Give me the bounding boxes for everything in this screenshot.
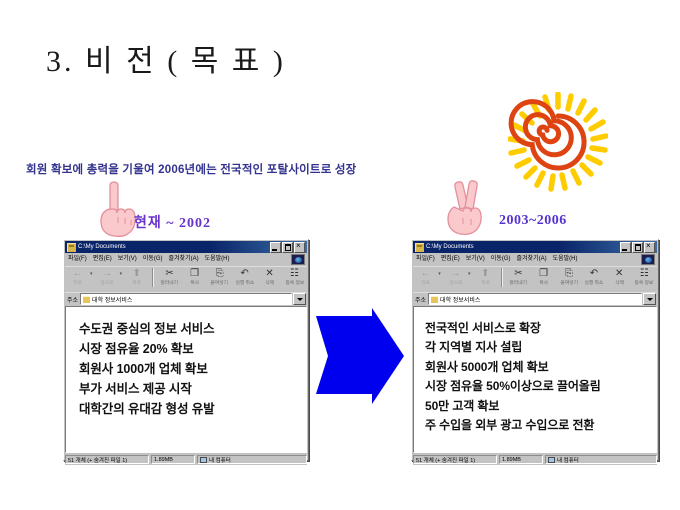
status-bar: 51 개체 (+ 숨겨진 파일 1) 1.89MB 내 컴퓨터 xyxy=(413,454,657,465)
list-item: 대학간의 유대감 형성 유발 xyxy=(79,399,306,419)
list-item: 시장 점유율 20% 확보 xyxy=(79,339,306,359)
page-title: 3. 비 전 ( 목 표 ) xyxy=(46,36,286,80)
scissors-icon: ✂ xyxy=(514,269,522,280)
address-input[interactable]: 대학 정보서비스 xyxy=(428,293,642,305)
close-button[interactable] xyxy=(644,242,655,253)
maximize-button[interactable] xyxy=(282,242,293,253)
list-item: 부가 서비스 제공 시작 xyxy=(79,379,306,399)
list-item: 전국적인 서비스로 확장 xyxy=(425,319,656,338)
tool-bar[interactable]: ← 뒤로 ▾ → 앞으로 ▾ ⬆ 위로 ✂ 잘라내기 ❐ 복사 xyxy=(65,266,307,291)
address-label: 주소 xyxy=(413,295,428,304)
chevron-down-icon[interactable] xyxy=(643,293,656,305)
toolbar-divider xyxy=(501,268,503,287)
minimize-button[interactable] xyxy=(270,242,281,253)
maximize-button[interactable] xyxy=(632,242,643,253)
tool-bar[interactable]: ← 뒤로 ▾ → 앞으로 ▾ ⬆ 위로 ✂ 잘라내기 ❐ 복사 xyxy=(413,266,657,291)
window-titlebar[interactable]: C:\My Documents xyxy=(413,241,657,253)
status-objects: 51 개체 (+ 숨겨진 파일 1) xyxy=(413,455,497,464)
menu-item-edit[interactable]: 편집(E) xyxy=(438,254,463,265)
folder-icon xyxy=(415,243,424,252)
menu-item-favorites[interactable]: 즐겨찾기(A) xyxy=(166,254,202,265)
phase-right-label: 2003~2006 xyxy=(499,213,567,229)
list-item: 50만 고객 확보 xyxy=(425,397,656,416)
window-buttons[interactable] xyxy=(270,242,306,253)
undo-icon: ↶ xyxy=(590,269,598,280)
window-titlebar[interactable]: C:\My Documents xyxy=(65,241,307,253)
toolbar-forward-button[interactable]: → 앞으로 xyxy=(443,267,468,286)
list-item: 회원사 5000개 업체 확보 xyxy=(425,358,656,377)
status-location: 내 컴퓨터 xyxy=(545,455,657,464)
phase-left-label: 현재 ~ 2002 xyxy=(134,212,211,232)
arrow-up-icon: ⬆ xyxy=(133,269,141,280)
undo-icon: ↶ xyxy=(240,269,248,280)
close-button[interactable] xyxy=(294,242,305,253)
menu-item-view[interactable]: 보기(V) xyxy=(115,254,140,265)
address-value: 대학 정보서비스 xyxy=(440,295,480,304)
folder-icon xyxy=(83,296,90,303)
toolbar-forward-button[interactable]: → 앞으로 xyxy=(95,267,120,286)
toolbar-undo-button[interactable]: ↶ 실행 취소 xyxy=(581,267,606,286)
list-item: 각 지역별 지사 설립 xyxy=(425,338,656,357)
menu-item-help[interactable]: 도움말(H) xyxy=(202,254,233,265)
status-size: 1.89MB xyxy=(151,455,195,464)
status-objects: 51 개체 (+ 숨겨진 파일 1) xyxy=(65,455,149,464)
menu-item-edit[interactable]: 편집(E) xyxy=(90,254,115,265)
computer-icon xyxy=(200,457,207,463)
toolbar-delete-button[interactable]: ✕ 삭제 xyxy=(607,267,632,286)
list-item: 수도권 중심의 정보 서비스 xyxy=(79,319,306,339)
arrow-left-icon: ← xyxy=(72,269,82,280)
address-bar[interactable]: 주소 대학 정보서비스 xyxy=(65,292,307,305)
clipboard-icon: ⎘ xyxy=(216,269,224,280)
toolbar-properties-button[interactable]: ☷ 등록 정보 xyxy=(282,267,307,286)
toolbar-up-button[interactable]: ⬆ 위로 xyxy=(473,267,498,286)
delete-x-icon: ✕ xyxy=(615,269,623,280)
status-location-text: 내 컴퓨터 xyxy=(209,456,231,464)
menu-item-favorites[interactable]: 즐겨찾기(A) xyxy=(514,254,550,265)
address-label: 주소 xyxy=(65,295,80,304)
toolbar-copy-button[interactable]: ❐ 복사 xyxy=(182,267,207,286)
menu-item-go[interactable]: 이동(G) xyxy=(488,254,514,265)
arrow-up-icon: ⬆ xyxy=(481,269,489,280)
arrow-right-icon: → xyxy=(450,269,460,280)
properties-icon: ☷ xyxy=(640,269,649,280)
toolbar-back-button[interactable]: ← 뒤로 xyxy=(65,267,90,286)
ie-logo-icon xyxy=(291,254,305,265)
status-bar: 51 개체 (+ 숨겨진 파일 1) 1.89MB 내 컴퓨터 xyxy=(65,454,307,465)
toolbar-paste-button[interactable]: ⎘ 붙여넣기 xyxy=(207,267,232,286)
toolbar-divider xyxy=(152,268,154,287)
folder-icon xyxy=(431,296,438,303)
folder-icon xyxy=(67,243,76,252)
hand-two-fingers-icon xyxy=(443,178,489,236)
status-location-text: 내 컴퓨터 xyxy=(557,456,579,464)
scissors-icon: ✂ xyxy=(165,269,173,280)
slide-canvas: 3. 비 전 ( 목 표 ) xyxy=(0,0,680,510)
menu-item-go[interactable]: 이동(G) xyxy=(140,254,166,265)
copy-icon: ❐ xyxy=(190,269,199,280)
toolbar-cut-button[interactable]: ✂ 잘라내기 xyxy=(157,267,182,286)
arrow-right-icon: → xyxy=(102,269,112,280)
toolbar-undo-button[interactable]: ↶ 실행 취소 xyxy=(232,267,257,286)
properties-icon: ☷ xyxy=(290,269,299,280)
window-title: C:\My Documents xyxy=(78,242,270,252)
copy-icon: ❐ xyxy=(539,269,548,280)
ie-logo-icon xyxy=(641,254,655,265)
toolbar-back-button[interactable]: ← 뒤로 xyxy=(413,267,438,286)
address-bar[interactable]: 주소 대학 정보서비스 xyxy=(413,292,657,305)
menu-bar[interactable]: 파일(F) 편집(E) 보기(V) 이동(G) 즐겨찾기(A) 도움말(H) xyxy=(65,254,307,265)
chevron-down-icon[interactable] xyxy=(293,293,306,305)
menu-item-view[interactable]: 보기(V) xyxy=(463,254,488,265)
arrow-left-icon: ← xyxy=(421,269,431,280)
status-location: 내 컴퓨터 xyxy=(197,455,307,464)
window-content-future: 전국적인 서비스로 확장 각 지역별 지사 설립 회원사 5000개 업체 확보… xyxy=(413,306,657,453)
explorer-window-current[interactable]: C:\My Documents 파일(F) 편집(E) 보기(V) 이동(G) … xyxy=(63,239,309,461)
menu-item-help[interactable]: 도움말(H) xyxy=(550,254,581,265)
window-content-current: 수도권 중심의 정보 서비스 시장 점유율 20% 확보 회원사 1000개 업… xyxy=(65,306,307,453)
menu-item-file[interactable]: 파일(F) xyxy=(65,254,90,265)
right-block-arrow-icon xyxy=(314,308,406,404)
sun-spiral-icon xyxy=(508,92,608,192)
toolbar-cut-button[interactable]: ✂ 잘라내기 xyxy=(506,267,531,286)
toolbar-paste-button[interactable]: ⎘ 붙여넣기 xyxy=(556,267,581,286)
toolbar-properties-button[interactable]: ☷ 등록 정보 xyxy=(632,267,657,286)
minimize-button[interactable] xyxy=(620,242,631,253)
menu-item-file[interactable]: 파일(F) xyxy=(413,254,438,265)
menu-bar[interactable]: 파일(F) 편집(E) 보기(V) 이동(G) 즐겨찾기(A) 도움말(H) xyxy=(413,254,657,265)
explorer-window-future[interactable]: C:\My Documents 파일(F) 편집(E) 보기(V) 이동(G) … xyxy=(411,239,659,461)
subtitle-text: 회원 확보에 총력을 기울여 2006년에는 전국적인 포탈사이트로 성장 xyxy=(26,161,356,177)
toolbar-up-button[interactable]: ⬆ 위로 xyxy=(124,267,149,286)
delete-x-icon: ✕ xyxy=(265,269,273,280)
toolbar-copy-button[interactable]: ❐ 복사 xyxy=(531,267,556,286)
address-value: 대학 정보서비스 xyxy=(92,295,132,304)
clipboard-icon: ⎘ xyxy=(565,269,573,280)
status-size: 1.89MB xyxy=(499,455,543,464)
address-input[interactable]: 대학 정보서비스 xyxy=(80,293,292,305)
window-title: C:\My Documents xyxy=(426,242,620,252)
list-item: 주 수입을 외부 광고 수입으로 전환 xyxy=(425,416,656,435)
list-item: 회원사 1000개 업체 확보 xyxy=(79,359,306,379)
list-item: 시장 점유율 50%이상으로 끌어올림 xyxy=(425,377,656,396)
computer-icon xyxy=(548,457,555,463)
toolbar-delete-button[interactable]: ✕ 삭제 xyxy=(257,267,282,286)
window-buttons[interactable] xyxy=(620,242,656,253)
